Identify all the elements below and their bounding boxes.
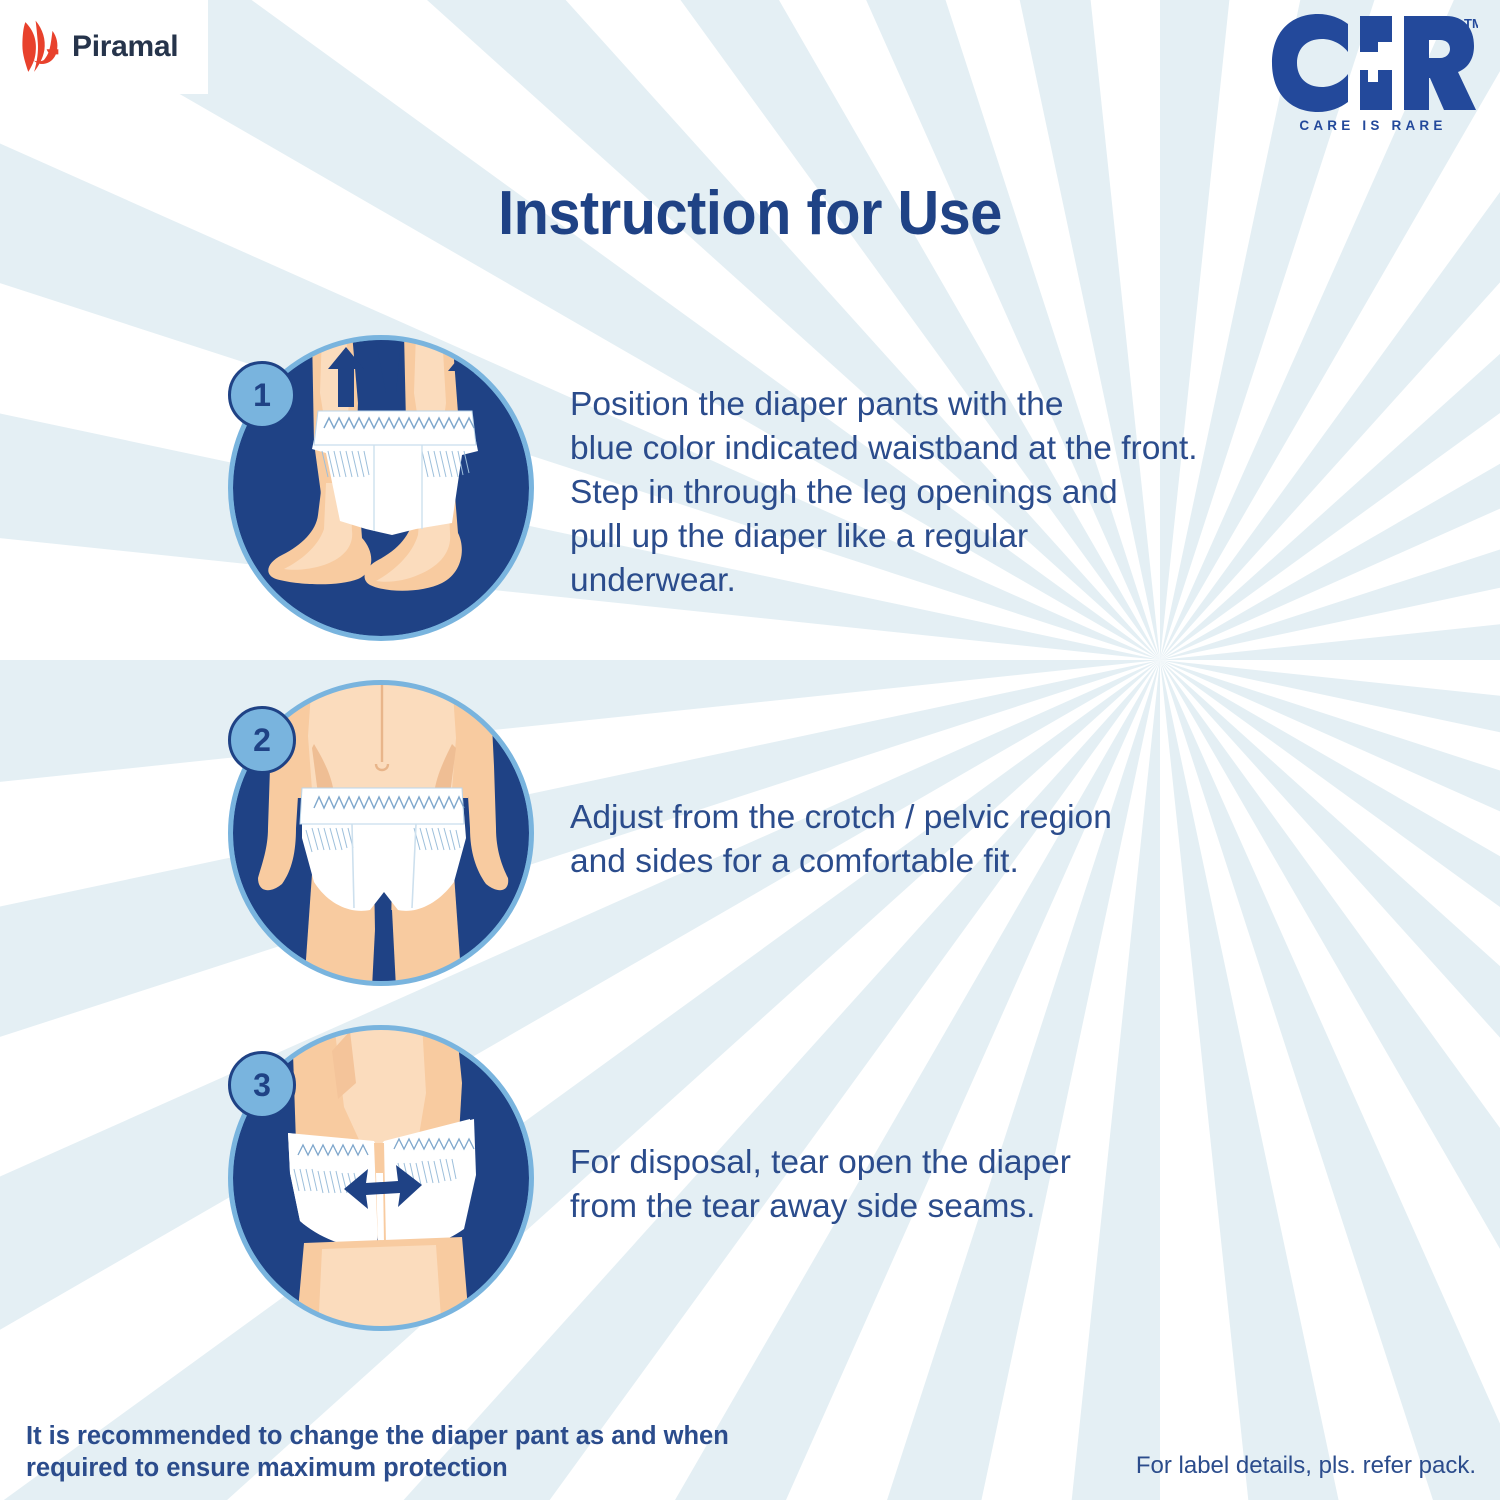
step-1-number-badge: 1 (228, 361, 296, 429)
piramal-logo: Piramal (0, 0, 208, 94)
step-2-text: Adjust from the crotch / pelvic region a… (570, 796, 1330, 884)
footer-label-note: For label details, pls. refer pack. (1136, 1452, 1476, 1480)
step-3-number-badge: 3 (228, 1051, 296, 1119)
piramal-flame-icon (18, 19, 62, 75)
step-3-text: For disposal, tear open the diaper from … (570, 1141, 1330, 1229)
svg-text:TM: TM (1464, 16, 1478, 31)
page-title: Instruction for Use (53, 178, 1448, 249)
cir-tagline: CARE IS RARE (1268, 118, 1478, 133)
piramal-wordmark: Piramal (72, 30, 178, 64)
cir-wordmark-icon: TM (1268, 10, 1478, 116)
step-1: 1 Position the diaper pants with the blu… (0, 333, 1500, 643)
step-1-text: Position the diaper pants with the blue … (570, 383, 1330, 603)
cir-logo: TM CARE IS RARE (1268, 10, 1478, 133)
footer-recommendation-note: It is recommended to change the diaper p… (26, 1420, 806, 1484)
step-2: 2 Adjust from the crotch / pelvic region… (0, 678, 1500, 988)
instruction-for-use-poster: Piramal TM CARE IS RARE Instruction for … (0, 0, 1500, 1500)
step-2-number-badge: 2 (228, 706, 296, 774)
step-3: 3 For disposal, tear open the diaper fro… (0, 1023, 1500, 1333)
